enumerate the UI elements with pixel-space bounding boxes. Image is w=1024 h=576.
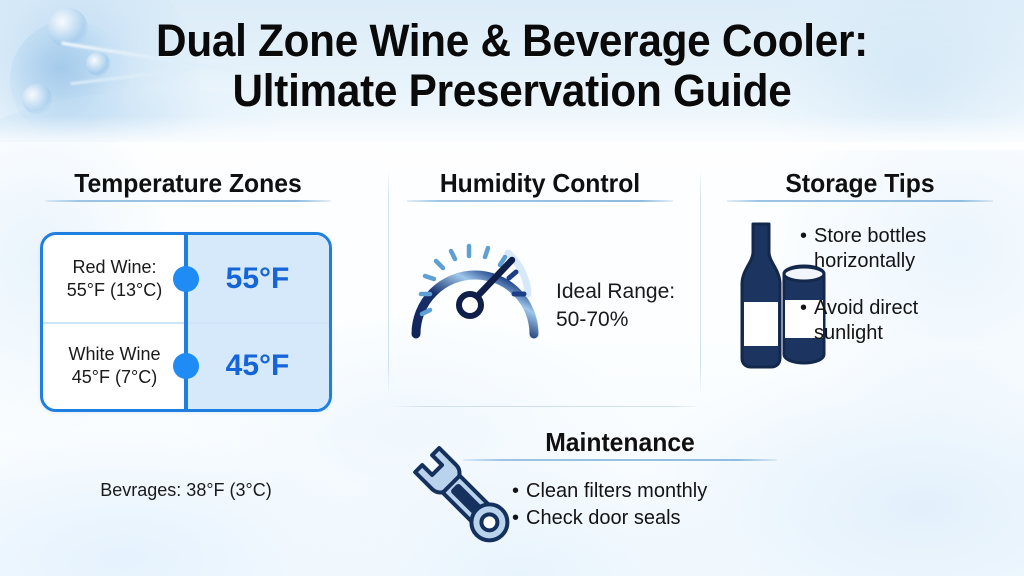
heading-temperature-zones: Temperature Zones: [46, 168, 331, 202]
temperature-row-red-wine-label: Red Wine: 55°F (13°C): [43, 235, 186, 322]
beverages-note: Bevrages: 38°F (3°C): [40, 480, 332, 501]
infographic-canvas: Dual Zone Wine & Beverage Cooler: Ultima…: [0, 0, 1024, 576]
bullet-marker: •: [800, 296, 807, 346]
temperature-row-red-wine: Red Wine: 55°F (13°C) 55°F: [43, 235, 329, 322]
temperature-row-white-wine: White Wine 45°F (7°C) 45°F: [43, 322, 329, 409]
temperature-zones-card: Red Wine: 55°F (13°C) 55°F White Wine 45…: [40, 232, 332, 412]
heading-storage-tips: Storage Tips: [727, 168, 993, 202]
white-wine-label-line-2: 45°F (7°C): [72, 366, 157, 389]
list-item: • Avoid direct sunlight: [800, 296, 970, 346]
maintenance-item-text: Clean filters monthly: [526, 478, 707, 505]
red-wine-value: 55°F: [186, 235, 329, 322]
bullet-marker: •: [800, 224, 807, 274]
heading-underline: [407, 200, 673, 202]
red-wine-label-line-2: 55°F (13°C): [67, 279, 162, 302]
bullet-marker: •: [512, 478, 519, 505]
temperature-marker-dot-red-wine: [173, 266, 199, 292]
page-title: Dual Zone Wine & Beverage Cooler: Ultima…: [31, 16, 994, 116]
page-title-line-1: Dual Zone Wine & Beverage Cooler:: [156, 15, 868, 66]
heading-humidity-control-text: Humidity Control: [440, 168, 640, 198]
bullet-marker: •: [512, 505, 519, 532]
heading-humidity-control: Humidity Control: [407, 168, 673, 202]
divider-vertical-left: [388, 168, 389, 396]
heading-maintenance-text: Maintenance: [545, 427, 695, 457]
humidity-ideal-range: Ideal Range: 50-70%: [556, 278, 706, 334]
heading-underline: [46, 200, 331, 202]
white-wine-label-line-1: White Wine: [68, 343, 160, 366]
red-wine-label-line-1: Red Wine:: [72, 256, 156, 279]
white-wine-value: 45°F: [186, 322, 329, 409]
page-title-line-2: Ultimate Preservation Guide: [31, 66, 994, 116]
heading-storage-tips-text: Storage Tips: [785, 168, 934, 198]
heading-temperature-zones-text: Temperature Zones: [74, 168, 301, 198]
divider-horizontal-middle: [392, 406, 702, 407]
temperature-marker-dot-white-wine: [173, 353, 199, 379]
storage-tip-text: Store bottles horizontally: [814, 224, 970, 274]
maintenance-list: • Clean filters monthly • Check door sea…: [512, 478, 802, 532]
humidity-ideal-range-label: Ideal Range:: [556, 278, 706, 306]
maintenance-item-text: Check door seals: [526, 505, 681, 532]
storage-tip-text: Avoid direct sunlight: [814, 296, 970, 346]
temperature-row-white-wine-label: White Wine 45°F (7°C): [43, 322, 186, 409]
gauge-icon: [400, 222, 550, 352]
list-item: • Store bottles horizontally: [800, 224, 970, 274]
wrench-icon: [403, 443, 515, 555]
header-fade: [0, 116, 1024, 142]
storage-tips-list: • Store bottles horizontally • Avoid dir…: [800, 224, 970, 368]
list-item: • Clean filters monthly: [512, 478, 802, 505]
heading-underline: [727, 200, 993, 202]
humidity-ideal-range-value: 50-70%: [556, 306, 706, 334]
list-item: • Check door seals: [512, 505, 802, 532]
